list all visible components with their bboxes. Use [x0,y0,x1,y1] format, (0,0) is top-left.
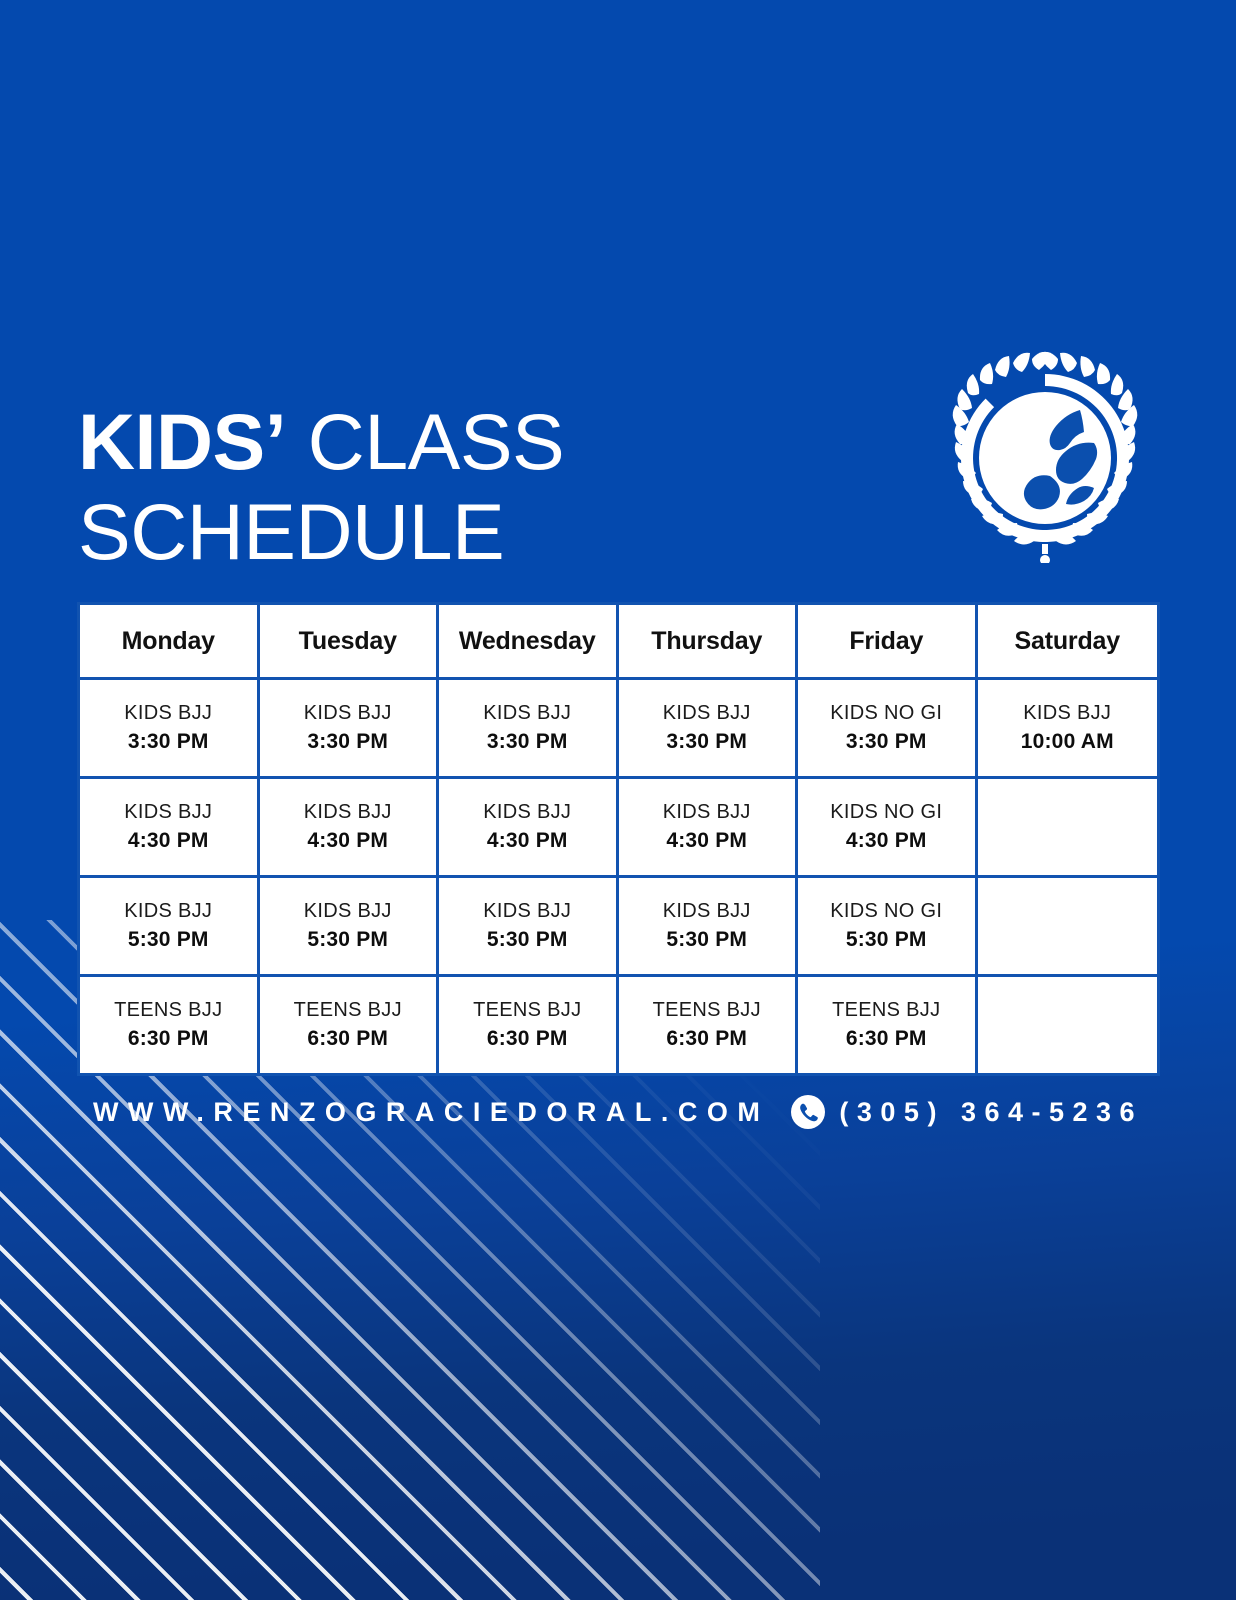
class-time: 5:30 PM [846,928,927,952]
page-title: KIDS’ CLASS SCHEDULE [78,397,564,577]
class-name: KIDS BJJ [663,702,751,725]
schedule-cell: KIDS NO GI 4:30 PM [798,779,978,878]
table-row: KIDS BJJ 3:30 PM KIDS BJJ 3:30 PM KIDS B… [80,680,1157,779]
schedule-cell: TEENS BJJ 6:30 PM [439,977,619,1073]
class-name: KIDS BJJ [124,801,212,824]
schedule-table: Monday Tuesday Wednesday Thursday Friday… [77,602,1160,1076]
schedule-cell: KIDS BJJ 4:30 PM [80,779,260,878]
class-time: 3:30 PM [307,730,388,754]
class-name: KIDS BJJ [483,801,571,824]
schedule-cell: KIDS BJJ 5:30 PM [619,878,799,977]
day-header-tuesday: Tuesday [260,605,440,680]
class-time: 6:30 PM [487,1027,568,1051]
class-name: TEENS BJJ [653,999,761,1022]
class-name: KIDS NO GI [830,801,942,824]
class-time: 5:30 PM [666,928,747,952]
table-row: TEENS BJJ 6:30 PM TEENS BJJ 6:30 PM TEEN… [80,977,1157,1073]
website-url[interactable]: WWW.RENZOGRACIEDORAL.COM [93,1097,769,1128]
class-time: 4:30 PM [666,829,747,853]
class-time: 3:30 PM [666,730,747,754]
class-name: KIDS BJJ [663,900,751,923]
class-time: 4:30 PM [846,829,927,853]
class-time: 4:30 PM [487,829,568,853]
schedule-cell: KIDS BJJ 3:30 PM [619,680,799,779]
schedule-cell: TEENS BJJ 6:30 PM [260,977,440,1073]
day-header-saturday: Saturday [978,605,1158,680]
schedule-table-container: Monday Tuesday Wednesday Thursday Friday… [77,602,1160,1076]
phone-icon [791,1095,825,1129]
class-name: KIDS BJJ [483,702,571,725]
day-header-wednesday: Wednesday [439,605,619,680]
class-time: 10:00 AM [1021,730,1114,754]
phone-group[interactable]: (305) 364-5236 [791,1095,1143,1129]
class-time: 5:30 PM [307,928,388,952]
poster-header: KIDS’ CLASS SCHEDULE [0,330,1236,560]
renzo-gracie-logo [930,348,1160,563]
schedule-cell: KIDS BJJ 5:30 PM [80,878,260,977]
phone-number[interactable]: (305) 364-5236 [839,1097,1143,1128]
class-time: 6:30 PM [666,1027,747,1051]
poster-footer: WWW.RENZOGRACIEDORAL.COM (305) 364-5236 [0,1086,1236,1138]
schedule-cell: KIDS BJJ 3:30 PM [260,680,440,779]
class-time: 6:30 PM [128,1027,209,1051]
table-row: KIDS BJJ 5:30 PM KIDS BJJ 5:30 PM KIDS B… [80,878,1157,977]
table-header-row: Monday Tuesday Wednesday Thursday Friday… [80,605,1157,680]
class-time: 3:30 PM [846,730,927,754]
class-name: TEENS BJJ [832,999,940,1022]
class-name: KIDS BJJ [124,900,212,923]
day-header-thursday: Thursday [619,605,799,680]
schedule-cell: KIDS NO GI 5:30 PM [798,878,978,977]
class-time: 5:30 PM [128,928,209,952]
class-time: 6:30 PM [307,1027,388,1051]
class-name: KIDS BJJ [663,801,751,824]
schedule-cell: KIDS BJJ 10:00 AM [978,680,1158,779]
class-name: KIDS BJJ [1023,702,1111,725]
schedule-cell: KIDS BJJ 3:30 PM [80,680,260,779]
day-header-monday: Monday [80,605,260,680]
schedule-cell: TEENS BJJ 6:30 PM [80,977,260,1073]
schedule-cell: KIDS BJJ 5:30 PM [439,878,619,977]
class-name: KIDS BJJ [124,702,212,725]
class-name: KIDS BJJ [304,801,392,824]
schedule-cell-empty [978,779,1158,878]
schedule-cell: KIDS BJJ 5:30 PM [260,878,440,977]
class-time: 4:30 PM [128,829,209,853]
page-title-emphasis: KIDS’ [78,397,286,486]
class-name: KIDS NO GI [830,900,942,923]
class-name: TEENS BJJ [114,999,222,1022]
class-name: KIDS BJJ [304,702,392,725]
class-name: KIDS NO GI [830,702,942,725]
schedule-poster: KIDS’ CLASS SCHEDULE [0,0,1236,1600]
schedule-cell-empty [978,977,1158,1073]
class-time: 3:30 PM [487,730,568,754]
day-header-friday: Friday [798,605,978,680]
schedule-cell: KIDS BJJ 4:30 PM [439,779,619,878]
class-time: 6:30 PM [846,1027,927,1051]
class-name: TEENS BJJ [294,999,402,1022]
table-row: KIDS BJJ 4:30 PM KIDS BJJ 4:30 PM KIDS B… [80,779,1157,878]
schedule-cell: KIDS BJJ 4:30 PM [260,779,440,878]
class-name: KIDS BJJ [483,900,571,923]
class-name: KIDS BJJ [304,900,392,923]
schedule-cell: TEENS BJJ 6:30 PM [798,977,978,1073]
schedule-cell: TEENS BJJ 6:30 PM [619,977,799,1073]
class-time: 4:30 PM [307,829,388,853]
schedule-cell: KIDS BJJ 3:30 PM [439,680,619,779]
schedule-cell: KIDS NO GI 3:30 PM [798,680,978,779]
class-time: 3:30 PM [128,730,209,754]
class-name: TEENS BJJ [473,999,581,1022]
class-time: 5:30 PM [487,928,568,952]
schedule-cell-empty [978,878,1158,977]
schedule-cell: KIDS BJJ 4:30 PM [619,779,799,878]
